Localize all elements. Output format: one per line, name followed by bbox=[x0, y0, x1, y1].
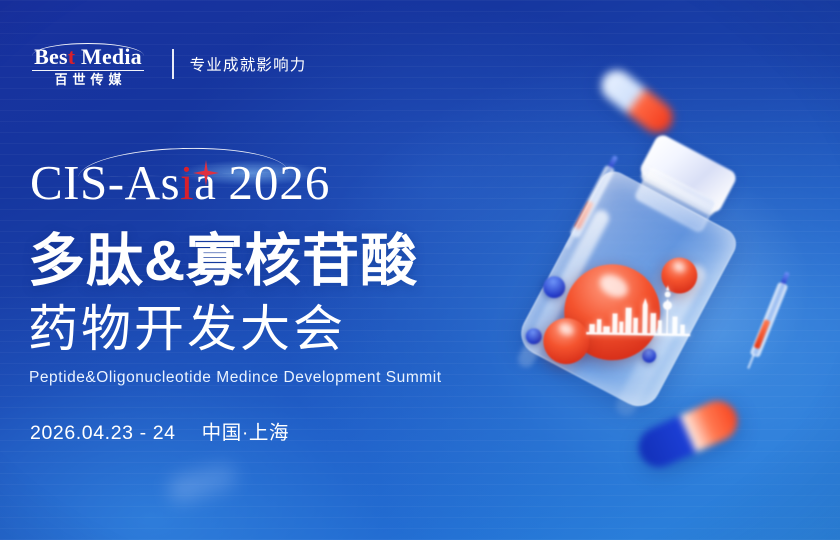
syringe-lower-icon bbox=[738, 270, 792, 384]
blue-molecule-dot bbox=[640, 346, 659, 365]
capsule-pill-bottom-icon bbox=[632, 395, 743, 474]
title-red-i: i bbox=[180, 155, 194, 210]
blue-molecule-dot bbox=[523, 325, 545, 347]
page-title: CIS-Asia2026 bbox=[30, 155, 330, 211]
logo-mark: Best Media 百世传媒 bbox=[30, 40, 146, 88]
vial-neck bbox=[633, 166, 717, 233]
vial-cap bbox=[638, 132, 739, 215]
medicine-vial-icon bbox=[512, 141, 773, 427]
shanghai-skyline-silhouette-icon bbox=[586, 284, 691, 344]
ampersand: & bbox=[144, 229, 186, 293]
syringe-upper-icon bbox=[562, 154, 620, 251]
logo-vertical-divider bbox=[172, 49, 174, 79]
artwork-glow bbox=[500, 120, 840, 450]
brand-slogan: 专业成就影响力 bbox=[190, 53, 307, 75]
logo-english-text: Best Media bbox=[30, 45, 146, 69]
brand-logo[interactable]: Best Media 百世传媒 专业成就影响力 bbox=[30, 40, 307, 88]
logo-chinese-text: 百世传媒 bbox=[30, 72, 146, 88]
headline-chinese-line1: 多肽&寡核苷酸 bbox=[28, 228, 418, 294]
red-sphere-main bbox=[547, 247, 677, 377]
headline-chinese-line2: 药物开发大会 bbox=[28, 300, 346, 358]
event-location: 中国·上海 bbox=[202, 422, 290, 444]
event-date: 2026.04.23 - 24 bbox=[30, 422, 176, 444]
title-year: 2026 bbox=[228, 155, 330, 210]
vial-body bbox=[513, 166, 741, 414]
capsule-pill-top-icon bbox=[595, 64, 679, 139]
headline-english-subtitle: Peptide&Oligonucleotide Medince Developm… bbox=[29, 368, 442, 388]
red-sphere-small bbox=[535, 310, 597, 372]
capsule-pill-blur-icon bbox=[166, 461, 240, 505]
conference-banner: Best Media 百世传媒 专业成就影响力 CIS-Asia2026 多肽&… bbox=[0, 0, 840, 540]
event-date-location: 2026.04.23 - 24中国·上海 bbox=[30, 420, 289, 446]
blue-molecule-dot bbox=[539, 272, 569, 302]
red-sphere-small bbox=[655, 251, 704, 300]
